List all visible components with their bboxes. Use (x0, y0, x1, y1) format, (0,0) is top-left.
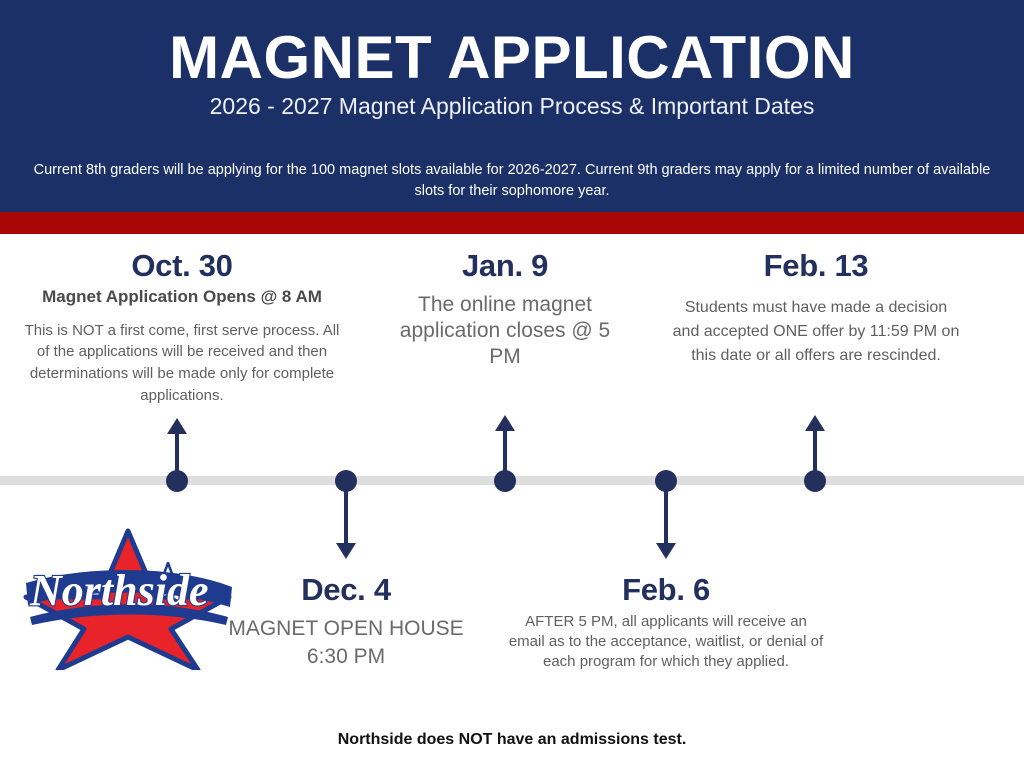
header-lede-text: Current 8th graders will be applying for… (20, 160, 1004, 202)
event-body-text: AFTER 5 PM, all applicants will receive … (508, 612, 824, 673)
northside-logo: Northside (16, 525, 240, 670)
event-date-label: Feb. 13 (672, 248, 960, 284)
timeline-event-jan-9: Jan. 9 The online magnet application clo… (385, 248, 625, 370)
timeline-connector-oct-30 (175, 432, 179, 480)
arrow-down-icon-dec-4 (336, 543, 356, 559)
page-title: MAGNET APPLICATION (0, 28, 1024, 88)
event-body-text: This is NOT a first come, first serve pr… (22, 320, 342, 407)
page-subtitle: 2026 - 2027 Magnet Application Process &… (0, 93, 1024, 121)
timeline-event-feb-13: Feb. 13 Students must have made a decisi… (672, 248, 960, 368)
event-date-label: Jan. 9 (385, 248, 625, 284)
timeline-event-dec-4: Dec. 4 MAGNET OPEN HOUSE 6:30 PM (206, 572, 486, 670)
arrow-up-icon-jan-9 (495, 415, 515, 431)
event-date-label: Dec. 4 (206, 572, 486, 608)
arrow-up-icon-oct-30 (167, 418, 187, 434)
northside-star-logo-icon: Northside (16, 525, 240, 670)
event-subhead-label: The online magnet application closes @ 5… (385, 292, 625, 371)
event-subhead-label: MAGNET OPEN HOUSE (206, 616, 486, 642)
logo-wordmark-text: Northside (29, 566, 208, 615)
arrow-down-icon-feb-6 (656, 543, 676, 559)
timeline-connector-feb-13 (813, 429, 817, 480)
timeline-event-feb-6: Feb. 6 AFTER 5 PM, all applicants will r… (508, 572, 824, 672)
arrow-up-icon-feb-13 (805, 415, 825, 431)
event-subhead-label: Magnet Application Opens @ 8 AM (22, 286, 342, 308)
timeline-connector-feb-6 (664, 481, 668, 543)
event-body-text: 6:30 PM (206, 644, 486, 670)
event-date-label: Oct. 30 (22, 248, 342, 284)
event-date-label: Feb. 6 (508, 572, 824, 608)
red-accent-stripe (0, 212, 1024, 234)
timeline-connector-dec-4 (344, 481, 348, 543)
footer-note: Northside does NOT have an admissions te… (0, 731, 1024, 749)
event-body-text: Students must have made a decision and a… (672, 296, 960, 368)
timeline-connector-jan-9 (503, 429, 507, 480)
timeline-event-oct-30: Oct. 30 Magnet Application Opens @ 8 AM … (22, 248, 342, 407)
